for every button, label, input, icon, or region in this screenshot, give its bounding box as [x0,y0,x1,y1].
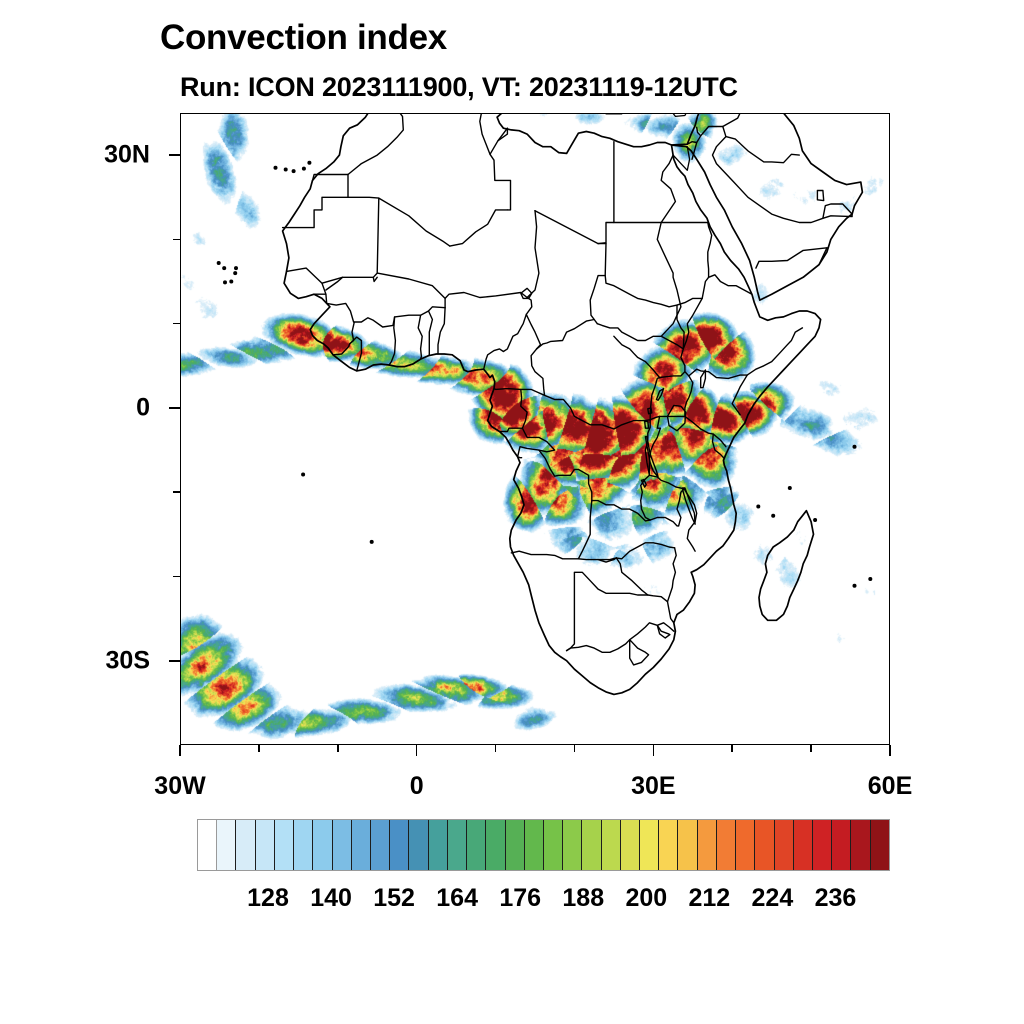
map-outline [327,303,445,327]
map-outline [526,298,540,349]
colorbar-cell [698,820,717,870]
map-outline [545,395,651,429]
island-marker [274,166,278,170]
island-marker [284,168,288,172]
island-marker [234,266,238,270]
map-outline [283,113,821,694]
colorbar-cell [659,820,678,870]
map-outline [683,488,696,524]
island-marker [292,169,296,173]
island-marker [307,161,311,165]
x-tick-minor [810,745,812,752]
map-vector-overlay [180,113,890,745]
map-outline [348,197,450,246]
x-tick-minor [731,745,733,752]
colorbar-tick-label: 152 [373,884,415,913]
colorbar-cell [563,820,582,870]
map-outline [713,137,853,223]
colorbar-cell [486,820,505,870]
map-outline [692,136,701,160]
map-outline [701,370,706,388]
map-outline [723,113,751,127]
y-tick-minor [173,491,180,493]
island-marker [788,486,792,490]
island-marker [301,473,305,477]
colorbar-tick-label: 140 [310,884,352,913]
map-outline [429,311,433,356]
colorbar-cell [525,820,544,870]
colorbar-cell [602,820,621,870]
map-outline [438,308,445,354]
map-outline [630,640,649,665]
map-outline [590,244,606,324]
map-outline [697,127,723,136]
map-outline [650,372,693,420]
map-outline [642,480,647,488]
map-outline [668,548,677,602]
colorbar-cell [390,820,409,870]
x-tick-major [653,745,655,756]
colorbar-cell [506,820,525,870]
map-outline [518,457,522,458]
colorbar-tick-label: 212 [688,884,730,913]
colorbar-cell [275,820,294,870]
y-tick-minor [173,239,180,241]
y-tick-minor [173,323,180,325]
island-marker [222,266,226,270]
y-tick-major [169,154,180,156]
map-outline [531,349,544,395]
map-outline [350,337,362,371]
island-marker [771,514,775,518]
colorbar-cell [448,820,467,870]
y-axis-label: 30S [106,646,150,675]
island-marker [853,445,857,449]
colorbar-cell [333,820,352,870]
map-outline [605,276,702,307]
map-outline [480,113,490,154]
x-tick-minor [258,745,260,752]
map-outline [511,501,592,559]
island-marker [229,280,233,284]
x-tick-minor [495,745,497,752]
map-outline [747,328,802,375]
map-outline [759,511,814,621]
colorbar-cell [582,820,601,870]
map-outline [677,489,684,526]
x-tick-minor [337,745,339,752]
colorbar-cell [217,820,236,870]
colorbar-tick-label: 200 [625,884,667,913]
map-outline [650,416,660,428]
map-outline [494,389,545,396]
map-outline [539,450,592,501]
map-outline [614,336,660,377]
colorbar-tick-label: 224 [752,884,794,913]
colorbar-cell [794,820,813,870]
map-outline [657,625,670,638]
island-marker [756,505,760,509]
map-outline [672,113,863,300]
map-outline [373,277,377,281]
convection-index-figure: Convection index Run: ICON 2023111900, V… [0,0,1024,1024]
map-outline [649,475,684,489]
map-outline [500,389,528,431]
map-outline [578,558,616,560]
colorbar-cell [198,820,217,870]
colorbar-cell [313,820,332,870]
y-tick-major [169,660,180,662]
colorbar-cell [851,820,870,870]
colorbar-cell [775,820,794,870]
map-outline [685,416,726,446]
map-outline [389,317,395,365]
map-outline [723,127,800,163]
map-outline [313,175,349,181]
map-outline [756,248,827,268]
map-outline [537,320,595,349]
colorbar-cell [352,820,371,870]
map-outline [450,210,508,246]
map-outline [817,191,823,201]
colorbar-cell [371,820,390,870]
map-outline [518,428,555,457]
colorbar[interactable] [197,819,890,871]
island-marker [233,271,237,275]
map-outline [645,421,649,428]
island-marker [217,261,221,265]
y-tick-major [169,407,180,409]
page-title: Convection index [160,18,447,58]
map-outline [819,248,827,265]
x-tick-major [416,745,418,756]
map-plot-area [180,113,890,745]
colorbar-cell [294,820,313,870]
x-axis-label: 30E [631,772,675,801]
colorbar-cell [678,820,697,870]
x-tick-major [179,745,181,756]
island-marker [302,167,306,171]
island-marker [370,540,374,544]
map-outline [657,389,664,401]
map-outline [648,595,674,623]
map-outline [527,211,598,298]
map-outline [484,314,527,369]
colorbar-cell [544,820,563,870]
colorbar-cell [832,820,851,870]
x-tick-major [889,745,891,756]
map-outline [283,175,348,228]
colorbar-cell [813,820,832,870]
run-valid-time-subtitle: Run: ICON 2023111900, VT: 20231119-12UTC [180,72,738,103]
map-outline [287,198,379,283]
map-outline [673,147,690,171]
colorbar-cell [256,820,275,870]
colorbar-cell [717,820,736,870]
colorbar-cell [409,820,428,870]
y-axis-label: 0 [136,393,150,422]
colorbar-cell [871,820,889,870]
map-outline [445,293,527,299]
x-tick-minor [574,745,576,752]
map-outline [672,113,689,116]
map-outline [616,558,648,595]
map-outline [598,142,614,244]
map-outline [598,243,605,244]
x-axis-label: 30W [154,772,205,801]
island-marker [223,280,227,284]
map-outline [708,223,712,278]
map-outline [490,128,511,210]
y-axis-label: 30N [104,141,150,170]
map-outline [348,113,403,175]
colorbar-tick-label: 128 [247,884,289,913]
colorbar-cell [467,820,486,870]
x-axis-label: 0 [410,772,424,801]
map-outline [681,275,752,372]
map-outline [668,405,686,430]
island-marker [868,577,872,581]
map-outline [377,273,445,308]
map-outline [333,322,354,355]
colorbar-cell [640,820,659,870]
map-outline [650,518,678,526]
island-marker [813,518,817,522]
island-marker [853,584,857,588]
map-outline [606,113,624,114]
colorbar-tick-label: 236 [815,884,857,913]
colorbar-cell [236,820,255,870]
y-tick-minor [173,576,180,578]
colorbar-cell [736,820,755,870]
map-outline [616,543,674,559]
map-outline [732,375,747,415]
colorbar-cell [621,820,640,870]
colorbar-tick-label: 188 [562,884,604,913]
colorbar-tick-label: 164 [436,884,478,913]
colorbar-cell [429,820,448,870]
x-axis-label: 60E [868,772,912,801]
map-outline [689,369,747,378]
map-outline [418,315,422,359]
colorbar-cell [755,820,774,870]
colorbar-tick-label: 176 [499,884,541,913]
